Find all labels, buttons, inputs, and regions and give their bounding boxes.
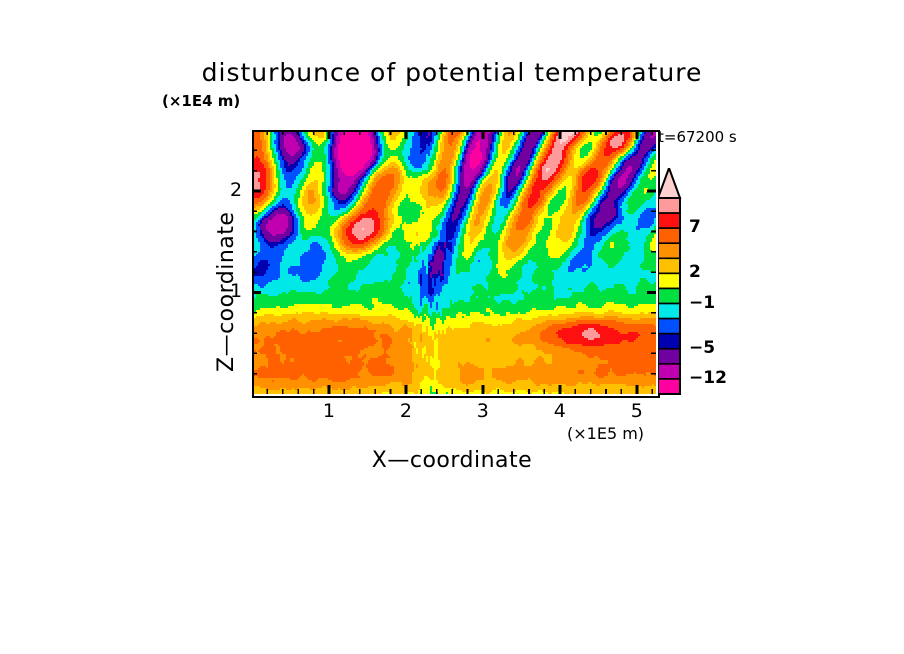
timestamp-annotation: t=67200 s (658, 128, 737, 146)
x-axis-label: X—coordinate (0, 448, 904, 473)
page-title: disturbunce of potential temperature (0, 58, 904, 87)
x-tick-label: 1 (309, 400, 349, 422)
y-tick-label: 2 (230, 179, 242, 201)
figure-canvas: disturbunce of potential temperature (×1… (0, 0, 904, 654)
x-tick-label: 2 (386, 400, 426, 422)
y-tick-label: 1 (230, 280, 242, 302)
x-tick-label: 5 (617, 400, 657, 422)
colorbar-tick-label: −12 (689, 368, 727, 388)
colorbar-tick-label: 7 (689, 217, 701, 237)
colorbar (658, 168, 738, 402)
colorbar-tick-label: −5 (689, 338, 715, 358)
x-tick-label: 4 (540, 400, 580, 422)
contour-plot (252, 130, 656, 394)
x-axis-unit-label: (×1E5 m) (567, 424, 644, 443)
colorbar-tick-label: 2 (689, 262, 701, 282)
y-axis-label: Z—coordinate (214, 132, 239, 372)
y-axis-unit-label: (×1E4 m) (162, 92, 240, 110)
x-tick-label: 3 (463, 400, 503, 422)
colorbar-tick-label: −1 (689, 293, 715, 313)
